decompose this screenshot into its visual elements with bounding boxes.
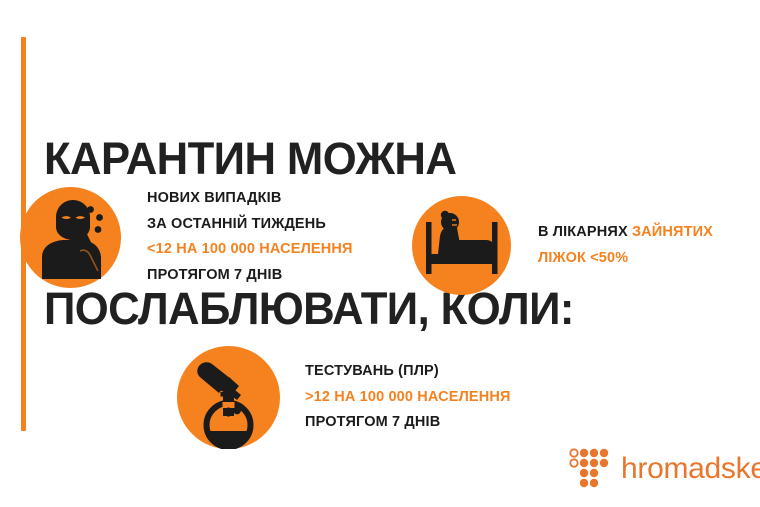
infographic-canvas: КАРАНТИН МОЖНА ПОСЛАБЛЮВАТИ, КОЛИ: — [0, 0, 760, 507]
title-line-1: КАРАНТИН МОЖНА — [44, 134, 574, 184]
criterion-block-hospital-beds: В ЛІКАРНЯХ ЗАЙНЯТИХ ЛІЖОК <50% — [412, 196, 713, 295]
text-line-highlight: <12 НА 100 000 НАСЕЛЕННЯ — [147, 237, 353, 263]
text-line-highlight: >12 НА 100 000 НАСЕЛЕННЯ — [305, 385, 511, 411]
text-line: ТЕСТУВАНЬ (ПЛР) — [305, 359, 511, 385]
text-plain: В ЛІКАРНЯХ — [538, 224, 628, 240]
text-line-highlight: ЛІЖОК <50% — [538, 246, 713, 272]
criterion-block-testing: ТЕСТУВАНЬ (ПЛР) >12 НА 100 000 НАСЕЛЕННЯ… — [177, 346, 511, 449]
coughing-person-icon — [20, 187, 121, 288]
text-line: ПРОТЯГОМ 7 ДНІВ — [147, 263, 353, 289]
criterion-text-hospital-beds: В ЛІКАРНЯХ ЗАЙНЯТИХ ЛІЖОК <50% — [538, 220, 713, 271]
criterion-text-new-cases: НОВИХ ВИПАДКІВ ЗА ОСТАННІЙ ТИЖДЕНЬ <12 Н… — [147, 186, 353, 288]
hromadske-logo: hromadske — [568, 447, 760, 491]
text-line: В ЛІКАРНЯХ ЗАЙНЯТИХ — [538, 220, 713, 246]
hromadske-wordmark: hromadske — [621, 454, 760, 484]
criterion-text-testing: ТЕСТУВАНЬ (ПЛР) >12 НА 100 000 НАСЕЛЕННЯ… — [305, 359, 511, 436]
text-line: ЗА ОСТАННІЙ ТИЖДЕНЬ — [147, 212, 353, 238]
text-line: ПРОТЯГОМ 7 ДНІВ — [305, 410, 511, 436]
text-line: НОВИХ ВИПАДКІВ — [147, 186, 353, 212]
criterion-block-new-cases: НОВИХ ВИПАДКІВ ЗА ОСТАННІЙ ТИЖДЕНЬ <12 Н… — [20, 186, 353, 288]
hromadske-dot-matrix-logo — [568, 447, 612, 491]
text-highlight: ЗАЙНЯТИХ — [632, 224, 713, 240]
pipette-and-flask-icon — [177, 346, 280, 449]
patient-in-hospital-bed-icon — [412, 196, 511, 295]
